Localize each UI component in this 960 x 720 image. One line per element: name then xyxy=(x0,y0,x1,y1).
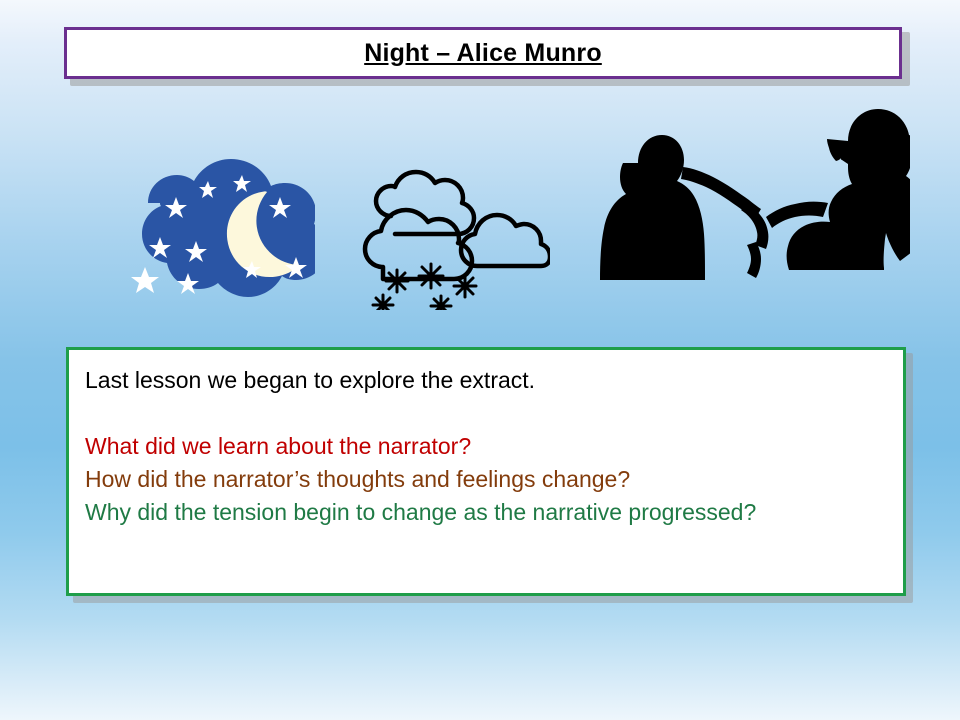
page-title: Night – Alice Munro xyxy=(364,39,602,68)
body-box: Last lesson we began to explore the extr… xyxy=(66,347,906,596)
question-3: Why did the tension begin to change as t… xyxy=(85,496,885,529)
question-1: What did we learn about the narrator? xyxy=(85,430,885,463)
intro-line: Last lesson we began to explore the extr… xyxy=(85,364,885,397)
image-row xyxy=(0,105,960,320)
mother-braiding-daughter-hair-silhouette xyxy=(580,105,910,325)
snow-cloud-icon xyxy=(355,150,550,315)
title-box: Night – Alice Munro xyxy=(64,27,902,79)
night-sky-cloud-moon-stars-icon xyxy=(100,145,315,315)
question-2: How did the narrator’s thoughts and feel… xyxy=(85,463,885,496)
slide: Night – Alice Munro xyxy=(0,0,960,720)
blank-line xyxy=(85,397,885,430)
